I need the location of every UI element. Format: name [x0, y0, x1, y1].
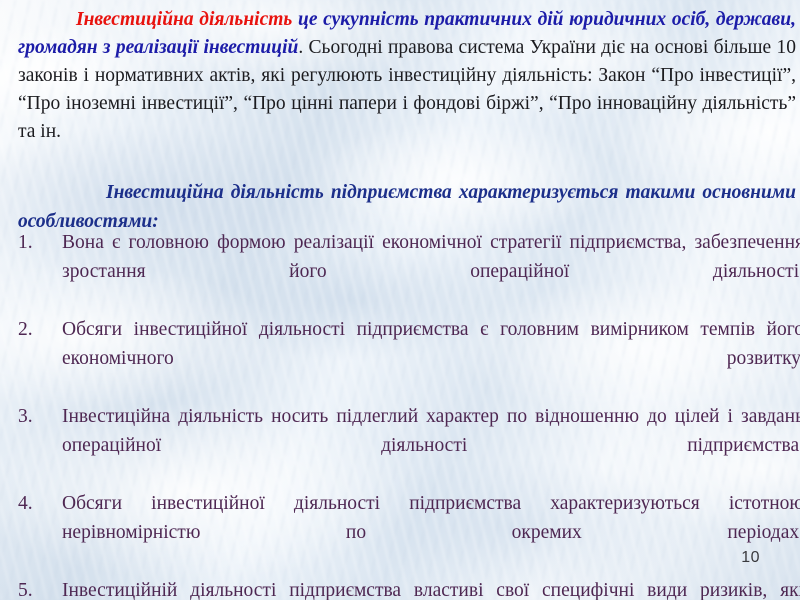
page-number: 10 — [741, 549, 760, 567]
list-item: Вона є головною формою реалізації економ… — [14, 228, 800, 315]
list-item-text: Вона є головною формою реалізації економ… — [62, 228, 800, 315]
features-list: Вона є головною формою реалізації економ… — [14, 228, 800, 600]
list-item: Обсяги інвестиційної діяльності підприєм… — [14, 489, 800, 576]
list-item-text: Обсяги інвестиційної діяльності підприєм… — [62, 489, 800, 576]
list-item: Інвестиційній діяльності підприємства вл… — [14, 576, 800, 600]
list-item: Інвестиційна діяльність носить підлеглий… — [14, 402, 800, 489]
intro-paragraph: Інвестиційна діяльність це сукупність пр… — [18, 6, 796, 146]
list-item: Обсяги інвестиційної діяльності підприєм… — [14, 315, 800, 402]
slide-content: Інвестиційна діяльність це сукупність пр… — [14, 0, 796, 600]
intro-emphasis-red: Інвестиційна діяльність — [76, 9, 292, 30]
list-item-text: Інвестиційній діяльності підприємства вл… — [62, 576, 800, 600]
slide-canvas: Інвестиційна діяльність це сукупність пр… — [0, 0, 800, 600]
list-item-text: Інвестиційна діяльність носить підлеглий… — [62, 402, 800, 489]
list-item-text: Обсяги інвестиційної діяльності підприєм… — [62, 315, 800, 402]
